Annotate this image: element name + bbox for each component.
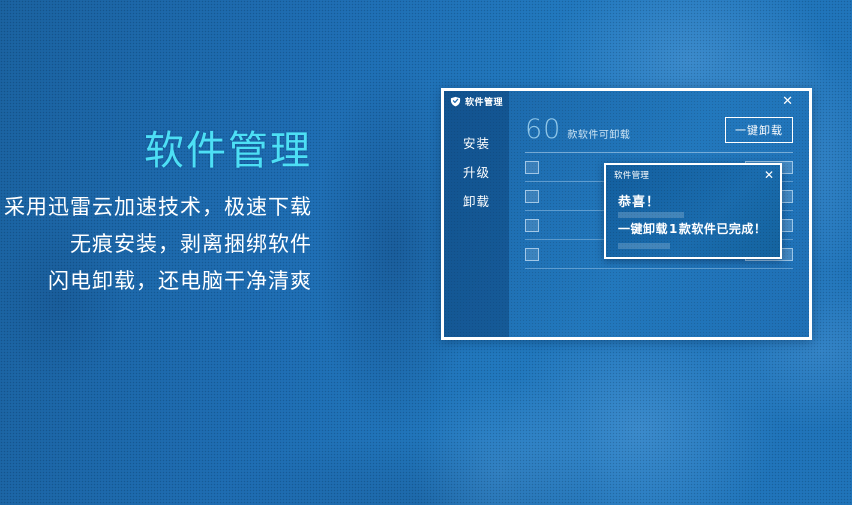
promo-line: 采用迅雷云加速技术，极速下载 — [0, 189, 312, 226]
uninstall-summary: 60 款软件可卸载 一键卸载 — [523, 112, 795, 143]
software-manager-window: 软件管理 安装 升级 卸载 ✕ 60 款软件可卸载 一键卸载 — [441, 88, 812, 340]
placeholder-bar — [618, 212, 684, 218]
sidebar-item-uninstall[interactable]: 卸载 — [444, 186, 509, 215]
dialog-titlebar: 软件管理 ✕ — [606, 165, 780, 184]
sidebar-item-label: 卸载 — [463, 191, 490, 210]
window-titlebar: ✕ — [523, 91, 795, 112]
close-icon[interactable]: ✕ — [764, 169, 774, 181]
row-checkbox[interactable] — [525, 219, 539, 232]
promo-lines: 采用迅雷云加速技术，极速下载 无痕安装，剥离捆绑软件 闪电卸载，还电脑干净清爽 — [0, 189, 312, 299]
dialog-message-prefix: 一键卸载 — [618, 222, 668, 236]
dialog-body: 恭喜！ 一键卸载1款软件已完成！ — [606, 184, 780, 249]
app-brand: 软件管理 — [444, 91, 509, 112]
dialog-message-count: 1 — [668, 222, 679, 236]
dialog-message: 一键卸载1款软件已完成！ — [618, 220, 780, 237]
row-checkbox[interactable] — [525, 248, 539, 261]
promo-line: 无痕安装，剥离捆绑软件 — [0, 226, 312, 263]
app-brand-label: 软件管理 — [465, 95, 503, 108]
shield-check-icon — [450, 96, 461, 107]
dialog-title: 软件管理 — [614, 169, 649, 181]
sidebar-nav: 安装 升级 卸载 — [444, 128, 509, 215]
promo-line: 闪电卸载，还电脑干净清爽 — [0, 263, 312, 300]
sidebar-item-install[interactable]: 安装 — [444, 128, 509, 157]
sidebar-item-label: 升级 — [463, 162, 490, 181]
placeholder-bar — [618, 243, 670, 249]
dialog-heading: 恭喜！ — [618, 191, 780, 210]
count-wrapper: 60 款软件可卸载 — [525, 116, 630, 143]
uninstallable-count-label: 款软件可卸载 — [567, 126, 630, 141]
dialog-message-suffix: 款软件已完成！ — [679, 222, 767, 236]
page-title: 软件管理 — [0, 126, 312, 177]
row-checkbox[interactable] — [525, 190, 539, 203]
row-checkbox[interactable] — [525, 161, 539, 174]
sidebar-item-label: 安装 — [463, 133, 490, 152]
promo-panel: 软件管理 采用迅雷云加速技术，极速下载 无痕安装，剥离捆绑软件 闪电卸载，还电脑… — [0, 126, 330, 299]
sidebar-item-upgrade[interactable]: 升级 — [444, 157, 509, 186]
uninstallable-count: 60 — [525, 116, 561, 143]
sidebar: 软件管理 安装 升级 卸载 — [444, 91, 509, 337]
close-icon[interactable]: ✕ — [782, 91, 795, 108]
uninstall-all-button[interactable]: 一键卸载 — [725, 117, 793, 143]
window-content: ✕ 60 款软件可卸载 一键卸载 — [509, 91, 809, 337]
completion-dialog: 软件管理 ✕ 恭喜！ 一键卸载1款软件已完成！ — [604, 163, 782, 259]
